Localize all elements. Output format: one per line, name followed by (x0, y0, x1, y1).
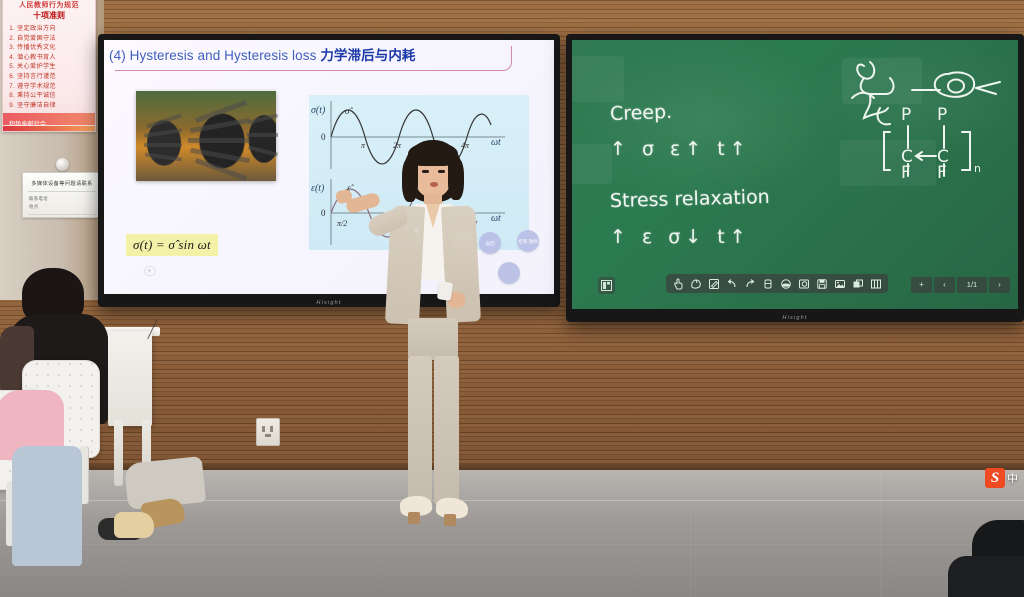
image-icon[interactable] (832, 276, 848, 291)
layers-icon[interactable] (850, 276, 866, 291)
board-pager[interactable]: + ‹ 1/1 › (911, 276, 1010, 293)
right-interactive-display[interactable]: Creep. ↑ σ ε↑ t↑ Stress relaxation ↑ ε σ… (566, 34, 1024, 322)
board-toolbar[interactable] (666, 274, 888, 293)
next-page-button[interactable]: › (989, 277, 1010, 293)
notice-title: 多媒体设备等问题请联系 (23, 180, 101, 187)
list-item: 坚守廉洁自律 (17, 101, 95, 111)
watermark: S 中 (985, 468, 1018, 488)
hand-select-icon[interactable] (670, 276, 686, 291)
page-title: (4) Hysteresis and Hysteresis loss 力学滞后与… (109, 44, 416, 64)
svg-text:σ(t): σ(t) (311, 105, 326, 116)
classroom-screenshot: 人民教师行为规范 十项准则 坚定政治方向 自觉爱国守法 传播优秀文化 潜心教书育… (0, 0, 1024, 597)
equipment-notice-sign: 多媒体设备等问题请联系 联系电话 地点 设备异常及时报修登记 (22, 172, 102, 218)
grid-icon[interactable] (868, 276, 884, 291)
slide-title-en: (4) Hysteresis and Hysteresis loss (109, 48, 316, 63)
list-item: 潜心教书育人 (17, 53, 95, 63)
prev-page-button[interactable]: ‹ (934, 277, 955, 293)
handwriting-creep-line: ↑ σ ε↑ t↑ (610, 138, 751, 160)
redo-icon[interactable] (742, 276, 758, 291)
list-item: 坚定政治方向 (17, 24, 95, 34)
notice-line-1: 联系电话 (29, 196, 101, 202)
eraser-icon[interactable] (760, 276, 776, 291)
slide-end-button[interactable]: 结束 放映 (517, 230, 539, 252)
teacher-code-poster: 人民教师行为规范 十项准则 坚定政治方向 自觉爱国守法 传播优秀文化 潜心教书育… (2, 0, 96, 132)
student-shoe (98, 512, 168, 560)
slide-title-cn: 力学滞后与内耗 (320, 48, 415, 63)
list-item: 遵守学术规范 (17, 82, 95, 92)
blackboard-screen[interactable]: Creep. ↑ σ ε↑ t↑ Stress relaxation ↑ ε σ… (572, 40, 1018, 309)
list-item: 传播优秀文化 (17, 43, 95, 53)
list-item: 秉持公平诚信 (17, 91, 95, 101)
list-item: 自觉爱国守法 (17, 34, 95, 44)
svg-text:0: 0 (321, 208, 326, 218)
svg-text:π/2: π/2 (337, 219, 347, 228)
notice-line-2: 地点 (29, 204, 101, 210)
stress-formula: σ(t) = σ̂ sin ωt (126, 234, 218, 256)
poster-subheader: 人民教师行为规范 (3, 0, 95, 10)
list-item: 坚持言行谨范 (17, 72, 95, 82)
board-menu-button[interactable] (598, 277, 615, 294)
svg-text:n: n (974, 162, 981, 175)
undo-icon[interactable] (724, 276, 740, 291)
handwriting-creep-heading: Creep. (610, 101, 673, 125)
student-right-edge-arm (948, 556, 1024, 597)
display-brand-label: Hisight (566, 315, 1024, 321)
sogou-logo-icon: S (985, 468, 1005, 488)
polymer-structure-drawing: P P C C F F n (850, 48, 1018, 178)
list-item: 关心爱护学生 (17, 62, 95, 72)
svg-text:0: 0 (321, 132, 326, 142)
poster-item-list: 坚定政治方向 自觉爱国守法 传播优秀文化 潜心教书育人 关心爱护学生 坚持言行谨… (7, 24, 95, 110)
poster-stripe (3, 126, 95, 131)
insert-icon[interactable] (796, 276, 812, 291)
save-icon[interactable] (814, 276, 830, 291)
svg-text:ε(t): ε(t) (311, 183, 325, 194)
slide-corner-icon (144, 266, 156, 276)
watermark-text: 中 (1007, 470, 1018, 486)
svg-text:F: F (901, 163, 911, 178)
poster-header: 十项准则 (3, 10, 95, 21)
poster-highlight-row: 积极奉献社会 (3, 113, 95, 125)
handwriting-relaxation-line: ↑ ε σ↓ t↑ (610, 226, 751, 248)
svg-text:F: F (937, 163, 947, 178)
pen-icon[interactable] (688, 276, 704, 291)
wall-power-outlet (256, 418, 280, 446)
shape-icon[interactable] (778, 276, 794, 291)
tractor-tires-photo (136, 91, 276, 181)
digital-blackboard[interactable]: Creep. ↑ σ ε↑ t↑ Stress relaxation ↑ ε σ… (572, 40, 1018, 309)
edit-icon[interactable] (706, 276, 722, 291)
lecturer (352, 140, 502, 540)
handwriting-relaxation-heading: Stress relaxation (610, 186, 770, 212)
menu-panel-icon (601, 280, 612, 291)
slide-end-label: 结束 放映 (518, 239, 538, 244)
svg-text:P: P (901, 105, 911, 125)
svg-text:P: P (937, 105, 947, 125)
page-indicator: 1/1 (957, 277, 987, 293)
add-page-button[interactable]: + (911, 277, 932, 293)
wall-knob (56, 158, 69, 171)
